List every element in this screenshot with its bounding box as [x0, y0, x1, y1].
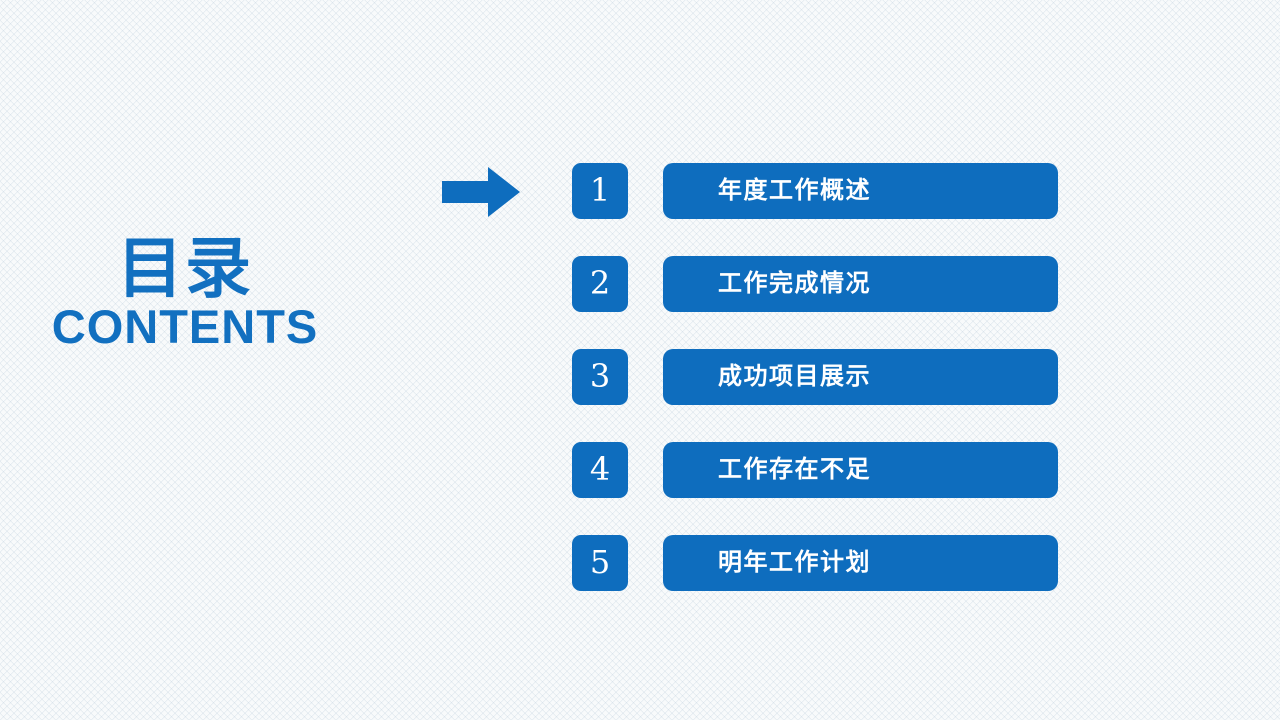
contents-number-badge: 5	[572, 535, 628, 591]
contents-number-badge: 1	[572, 163, 628, 219]
contents-number-label: 4	[590, 453, 610, 487]
contents-item-bar[interactable]: 成功项目展示	[663, 349, 1058, 405]
contents-number-label: 1	[590, 174, 610, 208]
contents-item-2[interactable]: 2 工作完成情况	[572, 256, 1062, 312]
contents-number-badge: 4	[572, 442, 628, 498]
contents-item-4[interactable]: 4 工作存在不足	[572, 442, 1062, 498]
slide-canvas: 目录 CONTENTS 1 年度工作概述 2 工作完成情况	[0, 0, 1280, 720]
contents-item-label: 成功项目展示	[718, 365, 871, 389]
page-title-chinese: 目录	[40, 234, 330, 304]
page-title: 目录 CONTENTS	[40, 234, 330, 352]
contents-item-bar[interactable]: 明年工作计划	[663, 535, 1058, 591]
contents-item-3[interactable]: 3 成功项目展示	[572, 349, 1062, 405]
contents-item-label: 工作存在不足	[718, 458, 871, 482]
contents-item-1[interactable]: 1 年度工作概述	[572, 163, 1062, 219]
contents-item-bar[interactable]: 工作存在不足	[663, 442, 1058, 498]
contents-item-label: 明年工作计划	[718, 551, 871, 575]
contents-item-5[interactable]: 5 明年工作计划	[572, 535, 1062, 591]
arrow-right-icon	[440, 166, 522, 218]
contents-number-badge: 2	[572, 256, 628, 312]
page-title-english: CONTENTS	[40, 302, 330, 352]
contents-item-bar[interactable]: 工作完成情况	[663, 256, 1058, 312]
contents-item-label: 工作完成情况	[718, 272, 871, 296]
contents-number-label: 5	[590, 546, 610, 580]
contents-list: 1 年度工作概述 2 工作完成情况 3 成功项目展示 4	[572, 163, 1062, 591]
contents-number-label: 2	[590, 267, 610, 301]
contents-number-badge: 3	[572, 349, 628, 405]
contents-item-label: 年度工作概述	[718, 179, 871, 203]
contents-item-bar[interactable]: 年度工作概述	[663, 163, 1058, 219]
contents-number-label: 3	[590, 360, 610, 394]
